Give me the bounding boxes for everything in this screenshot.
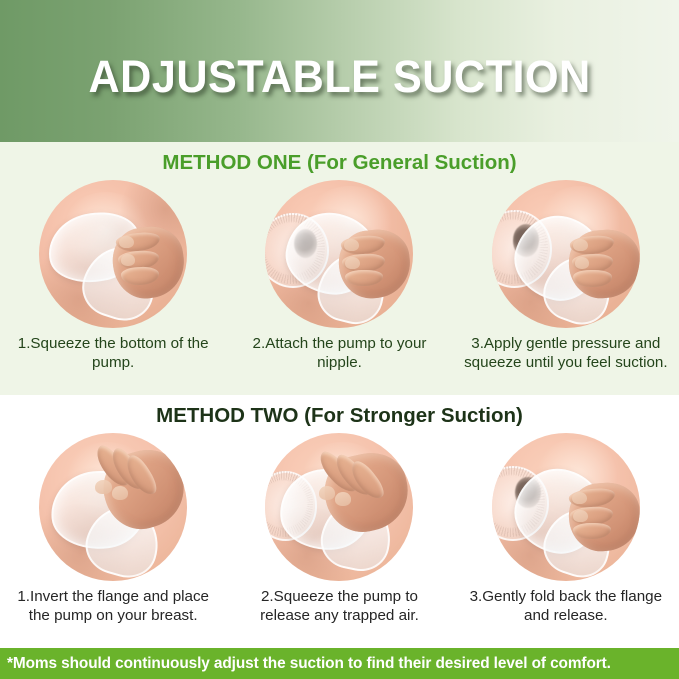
- method-two-step-1: 1.Invert the flange and place the pump o…: [0, 431, 226, 648]
- photo-inverting-flange: [39, 433, 187, 581]
- method-one-steps: 1.Squeeze the bottom of the pump.: [0, 178, 679, 395]
- method-one-step-3-caption: 3.Apply gentle pressure and squeeze unti…: [453, 328, 679, 373]
- method-two-heading: METHOD TWO (For Stronger Suction): [156, 404, 523, 428]
- photo-folding-back-flange: [492, 433, 640, 581]
- method-two-steps: 1.Invert the flange and place the pump o…: [0, 431, 679, 648]
- footer-note-banner: *Moms should continuously adjust the suc…: [0, 648, 679, 679]
- photo-squeezing-pump-release-air: [265, 433, 413, 581]
- photo-hand-squeezing-pump: [39, 180, 187, 328]
- method-two-step-3: 3.Gently fold back the flange and releas…: [453, 431, 679, 648]
- footer-note-text: *Moms should continuously adjust the suc…: [7, 655, 611, 673]
- method-two-step-3-caption: 3.Gently fold back the flange and releas…: [453, 581, 679, 626]
- infographic-root: ADJUSTABLE SUCTION METHOD ONE (For Gener…: [0, 0, 679, 679]
- photo-applying-gentle-pressure: [492, 180, 640, 328]
- method-two-section: METHOD TWO (For Stronger Suction) 1.Inve…: [0, 395, 679, 648]
- method-one-section: METHOD ONE (For General Suction) 1.Squee: [0, 142, 679, 395]
- page-title: ADJUSTABLE SUCTION: [88, 51, 590, 103]
- method-one-heading: METHOD ONE (For General Suction): [162, 151, 516, 175]
- header-banner: ADJUSTABLE SUCTION: [0, 0, 679, 142]
- method-one-step-1-caption: 1.Squeeze the bottom of the pump.: [0, 328, 226, 373]
- method-two-step-2-caption: 2.Squeeze the pump to release any trappe…: [226, 581, 452, 626]
- method-two-step-2: 2.Squeeze the pump to release any trappe…: [226, 431, 452, 648]
- method-one-step-3: 3.Apply gentle pressure and squeeze unti…: [453, 178, 679, 395]
- photo-attaching-pump-to-nipple: [265, 180, 413, 328]
- method-one-step-1: 1.Squeeze the bottom of the pump.: [0, 178, 226, 395]
- method-one-step-2: 2.Attach the pump to your nipple.: [226, 178, 452, 395]
- method-one-step-2-caption: 2.Attach the pump to your nipple.: [226, 328, 452, 373]
- method-two-step-1-caption: 1.Invert the flange and place the pump o…: [0, 581, 226, 626]
